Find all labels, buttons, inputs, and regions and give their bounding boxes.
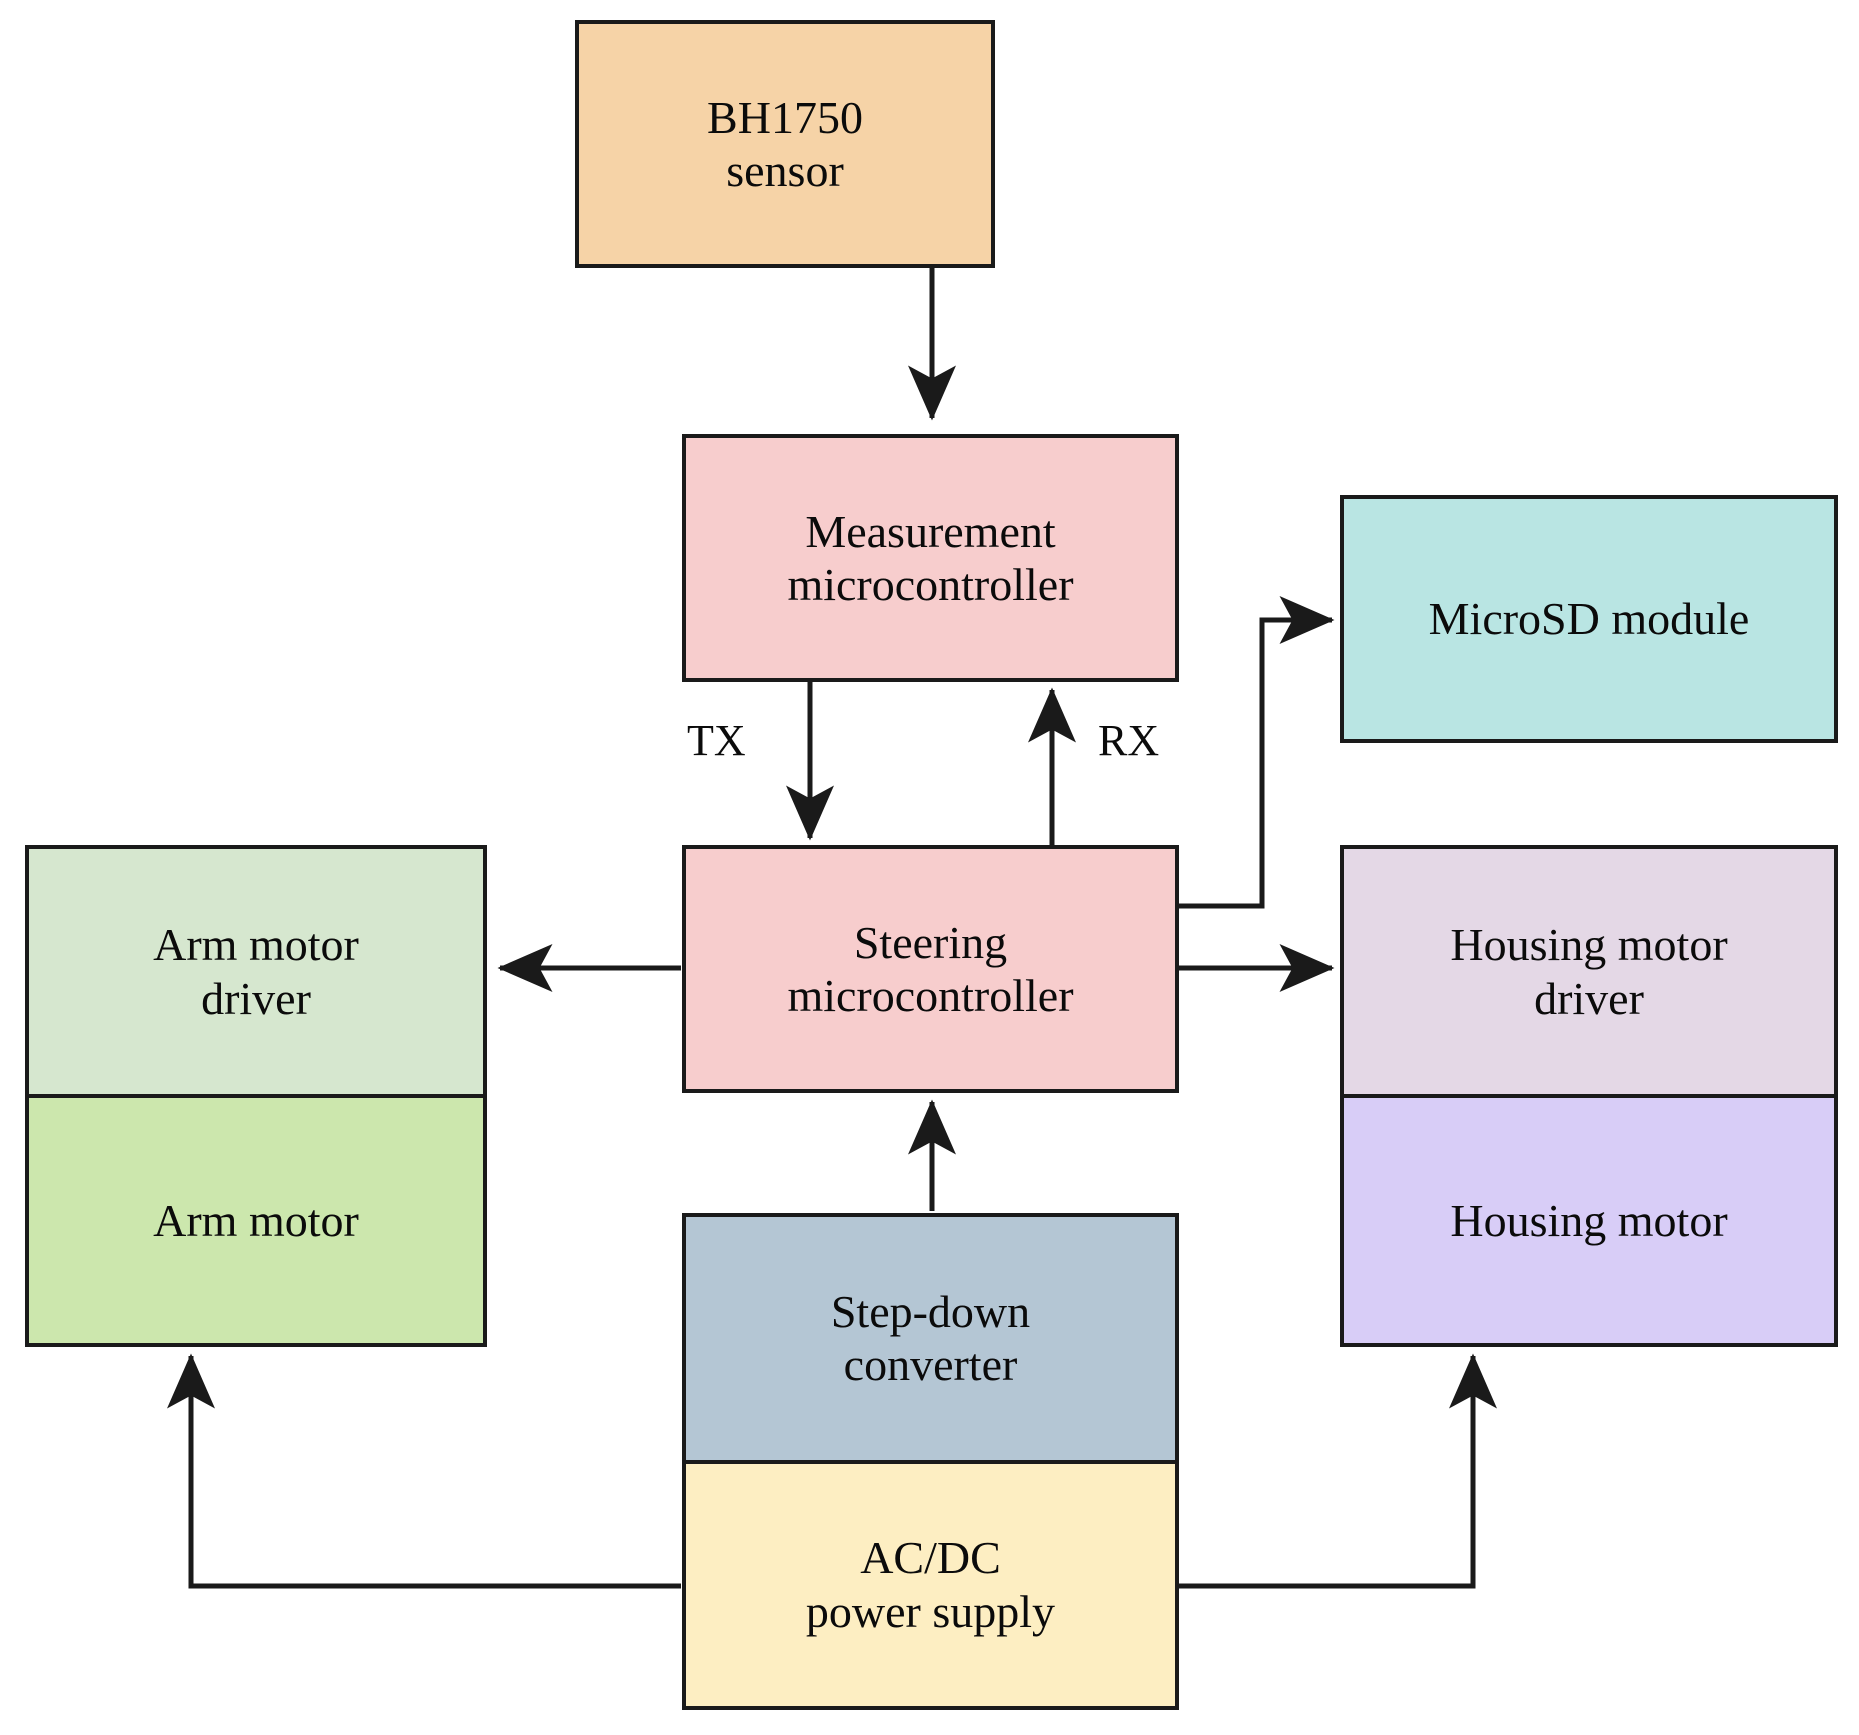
arm-driver-label-line1: Arm motor — [153, 918, 359, 971]
bh1750-label-line2: sensor — [726, 144, 844, 197]
block-housing-motor[interactable]: Housing motor — [1344, 1098, 1834, 1343]
acdc-label-line1: AC/DC — [860, 1531, 1001, 1584]
measurement-label-line2: microcontroller — [787, 558, 1073, 611]
housing-driver-label-line2: driver — [1534, 972, 1644, 1025]
edge-label-tx: TX — [687, 715, 746, 766]
block-step-down-converter[interactable]: Step-down converter — [686, 1217, 1175, 1464]
block-arm-motor[interactable]: Arm motor — [29, 1098, 483, 1343]
block-bh1750-sensor[interactable]: BH1750 sensor — [575, 20, 995, 268]
arm-driver-label-line2: driver — [201, 972, 311, 1025]
block-arm-assembly: Arm motor driver Arm motor — [25, 845, 487, 1347]
wire-steering-to-microsd — [1179, 620, 1332, 906]
bh1750-label-line1: BH1750 — [707, 91, 863, 144]
block-housing-motor-driver[interactable]: Housing motor driver — [1344, 849, 1834, 1098]
stepdown-label-line1: Step-down — [831, 1285, 1030, 1338]
block-power-assembly: Step-down converter AC/DC power supply — [682, 1213, 1179, 1710]
block-diagram-canvas: BH1750 sensor Measurement microcontrolle… — [0, 0, 1859, 1735]
block-steering-microcontroller[interactable]: Steering microcontroller — [682, 845, 1179, 1093]
microsd-label-line1: MicroSD module — [1429, 592, 1750, 645]
block-measurement-microcontroller[interactable]: Measurement microcontroller — [682, 434, 1179, 682]
steering-label-line1: Steering — [854, 916, 1007, 969]
arm-motor-label-line1: Arm motor — [153, 1194, 359, 1247]
stepdown-label-line2: converter — [844, 1338, 1018, 1391]
block-arm-motor-driver[interactable]: Arm motor driver — [29, 849, 483, 1098]
edge-label-rx: RX — [1098, 715, 1159, 766]
acdc-label-line2: power supply — [806, 1585, 1055, 1638]
wire-power-to-arm-motor — [191, 1356, 681, 1586]
measurement-label-line1: Measurement — [805, 505, 1055, 558]
block-housing-assembly: Housing motor driver Housing motor — [1340, 845, 1838, 1347]
housing-motor-label-line1: Housing motor — [1450, 1194, 1727, 1247]
steering-label-line2: microcontroller — [787, 969, 1073, 1022]
block-ac-dc-power-supply[interactable]: AC/DC power supply — [686, 1464, 1175, 1707]
block-microsd-module[interactable]: MicroSD module — [1340, 495, 1838, 743]
wire-power-to-housing-motor — [1179, 1356, 1473, 1586]
housing-driver-label-line1: Housing motor — [1450, 918, 1727, 971]
